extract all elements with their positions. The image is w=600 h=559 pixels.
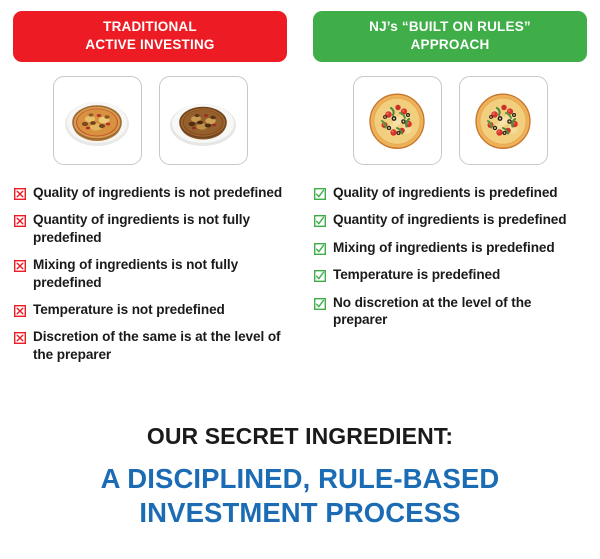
pizza-consistent-1-icon [360, 84, 434, 158]
x-box-icon [14, 214, 26, 226]
banner-nj-approach-line1: NJ’s “BUILT ON RULES” [369, 18, 531, 36]
column-traditional: TRADITIONAL ACTIVE INVESTING [0, 0, 300, 373]
footer-main-line1: A DISCIPLINED, RULE-BASED [0, 462, 600, 495]
bullet-item: Discretion of the same is at the level o… [0, 328, 300, 363]
footer-callout: OUR SECRET INGREDIENT: A DISCIPLINED, RU… [0, 424, 600, 529]
footer-main-text: A DISCIPLINED, RULE-BASED INVESTMENT PRO… [0, 462, 600, 529]
banner-nj-approach-line2: APPROACH [411, 36, 490, 54]
x-box-icon [14, 304, 26, 316]
bullet-text: Quality of ingredients is not predefined [33, 184, 282, 201]
bullet-text: Mixing of ingredients is predefined [333, 239, 555, 256]
x-box-icon [14, 331, 26, 343]
check-box-icon [314, 242, 326, 254]
bullet-item: Mixing of ingredients is not fully prede… [0, 256, 300, 291]
bullet-list-nj-approach: Quality of ingredients is predefined Qua… [300, 184, 600, 328]
pizza-card-nj-1 [353, 76, 442, 165]
bullet-text: Quantity of ingredients is predefined [333, 211, 566, 228]
x-box-icon [14, 259, 26, 271]
bullet-item: Temperature is predefined [300, 266, 600, 283]
footer-kicker-text: OUR SECRET INGREDIENT: [0, 424, 600, 449]
bullet-item: No discretion at the level of the prepar… [300, 294, 600, 329]
infographic-root: TRADITIONAL ACTIVE INVESTING [0, 0, 600, 559]
bullet-item: Quantity of ingredients is predefined [300, 211, 600, 228]
banner-traditional: TRADITIONAL ACTIVE INVESTING [13, 11, 287, 62]
pizza-card-nj-2 [459, 76, 548, 165]
bullet-text: Quality of ingredients is predefined [333, 184, 558, 201]
bullet-item: Quality of ingredients is not predefined [0, 184, 300, 201]
x-box-icon [14, 187, 26, 199]
check-box-icon [314, 297, 326, 309]
bullet-item: Temperature is not predefined [0, 301, 300, 318]
banner-traditional-line1: TRADITIONAL [103, 18, 197, 36]
bullet-item: Mixing of ingredients is predefined [300, 239, 600, 256]
check-box-icon [314, 187, 326, 199]
bullet-text: Quantity of ingredients is not fully pre… [33, 211, 294, 246]
bullet-text: Temperature is predefined [333, 266, 500, 283]
banner-traditional-line2: ACTIVE INVESTING [85, 36, 214, 54]
column-nj-approach: NJ’s “BUILT ON RULES” APPROACH [300, 0, 600, 373]
bullet-text: No discretion at the level of the prepar… [333, 294, 583, 329]
footer-main-line2: INVESTMENT PROCESS [0, 496, 600, 529]
banner-nj-approach: NJ’s “BUILT ON RULES” APPROACH [313, 11, 587, 62]
pizza-consistent-2-icon [466, 84, 540, 158]
comparison-columns: TRADITIONAL ACTIVE INVESTING [0, 0, 600, 373]
bullet-item: Quantity of ingredients is not fully pre… [0, 211, 300, 246]
pizza-card-traditional-1 [53, 76, 142, 165]
check-box-icon [314, 269, 326, 281]
pizza-card-traditional-2 [159, 76, 248, 165]
pizza-plate-inconsistent-2-icon [166, 84, 240, 158]
bullet-list-traditional: Quality of ingredients is not predefined… [0, 184, 300, 363]
pizza-cards-traditional [0, 76, 300, 165]
pizza-plate-inconsistent-1-icon [60, 84, 134, 158]
bullet-item: Quality of ingredients is predefined [300, 184, 600, 201]
pizza-cards-nj-approach [300, 76, 600, 165]
bullet-text: Mixing of ingredients is not fully prede… [33, 256, 294, 291]
bullet-text: Temperature is not predefined [33, 301, 225, 318]
bullet-text: Discretion of the same is at the level o… [33, 328, 294, 363]
check-box-icon [314, 214, 326, 226]
